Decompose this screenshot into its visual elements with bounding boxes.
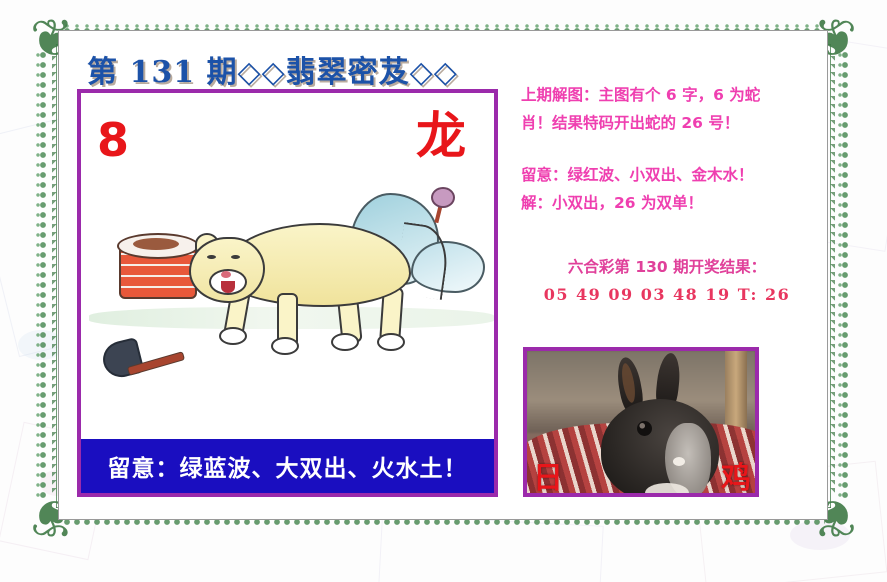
lottery-results-title: 六合彩第 130 期开奖结果：: [521, 253, 813, 281]
note-line-2: 解：小双出，26 为双单！: [521, 189, 813, 217]
rabbit-photo: 日 鸡: [523, 347, 759, 497]
lion-eye-right: [231, 255, 240, 259]
photo-right-character: 鸡: [721, 453, 751, 497]
main-image-panel: 8 龙: [77, 89, 498, 497]
axe-blade-icon: [99, 337, 145, 381]
page-background: ❦ ❦ ❦ ❦ 第 131 期◇◇翡翠密芨◇◇ 8 龙: [0, 0, 887, 582]
advice-banner: 留意：绿蓝波、大双出、火水土！: [81, 439, 494, 493]
lucky-number: 8: [97, 117, 129, 163]
lion-nose: [221, 271, 231, 278]
frame-lace-right: [838, 50, 851, 502]
content-card: 第 131 期◇◇翡翠密芨◇◇ 8 龙: [58, 30, 828, 520]
lion-eye-left: [207, 255, 216, 259]
analysis-line-1: 上期解图：主图有个 6 字，6 为蛇: [521, 81, 813, 109]
column-spacer: [521, 137, 813, 161]
analysis-line-2: 肖！结果特码开出蛇的 26 号！: [521, 109, 813, 137]
cartoon-illustration: [81, 181, 494, 431]
rabbit-nose: [673, 457, 685, 466]
note-line-1: 留意：绿红波、小双出、金木水！: [521, 161, 813, 189]
page-title: 第 131 期◇◇翡翠密芨◇◇: [87, 47, 458, 91]
analysis-column: 上期解图：主图有个 6 字，6 为蛇 肖！结果特码开出蛇的 26 号！ 留意：绿…: [521, 81, 813, 309]
lion-paw-front-left: [219, 327, 247, 345]
lion-paw-rear-right: [377, 333, 405, 351]
rabbit-eye: [637, 421, 652, 436]
lion-paw-rear-left: [331, 333, 359, 351]
rabbit-chest-fur: [645, 483, 689, 497]
lion-mouth: [221, 281, 235, 293]
zodiac-character: 龙: [416, 111, 466, 161]
well-opening: [133, 238, 179, 250]
frame-lace-left: [36, 50, 49, 502]
lottery-results-numbers: 05 49 09 03 48 19 T: 26: [521, 281, 813, 309]
advice-banner-text: 留意：绿蓝波、大双出、火水土！: [108, 449, 468, 483]
lion-tail-tuft: [431, 187, 455, 208]
lottery-results-block: 六合彩第 130 期开奖结果： 05 49 09 03 48 19 T: 26: [521, 253, 813, 309]
photo-left-character: 日: [533, 453, 563, 497]
lion-paw-front-right: [271, 337, 299, 355]
